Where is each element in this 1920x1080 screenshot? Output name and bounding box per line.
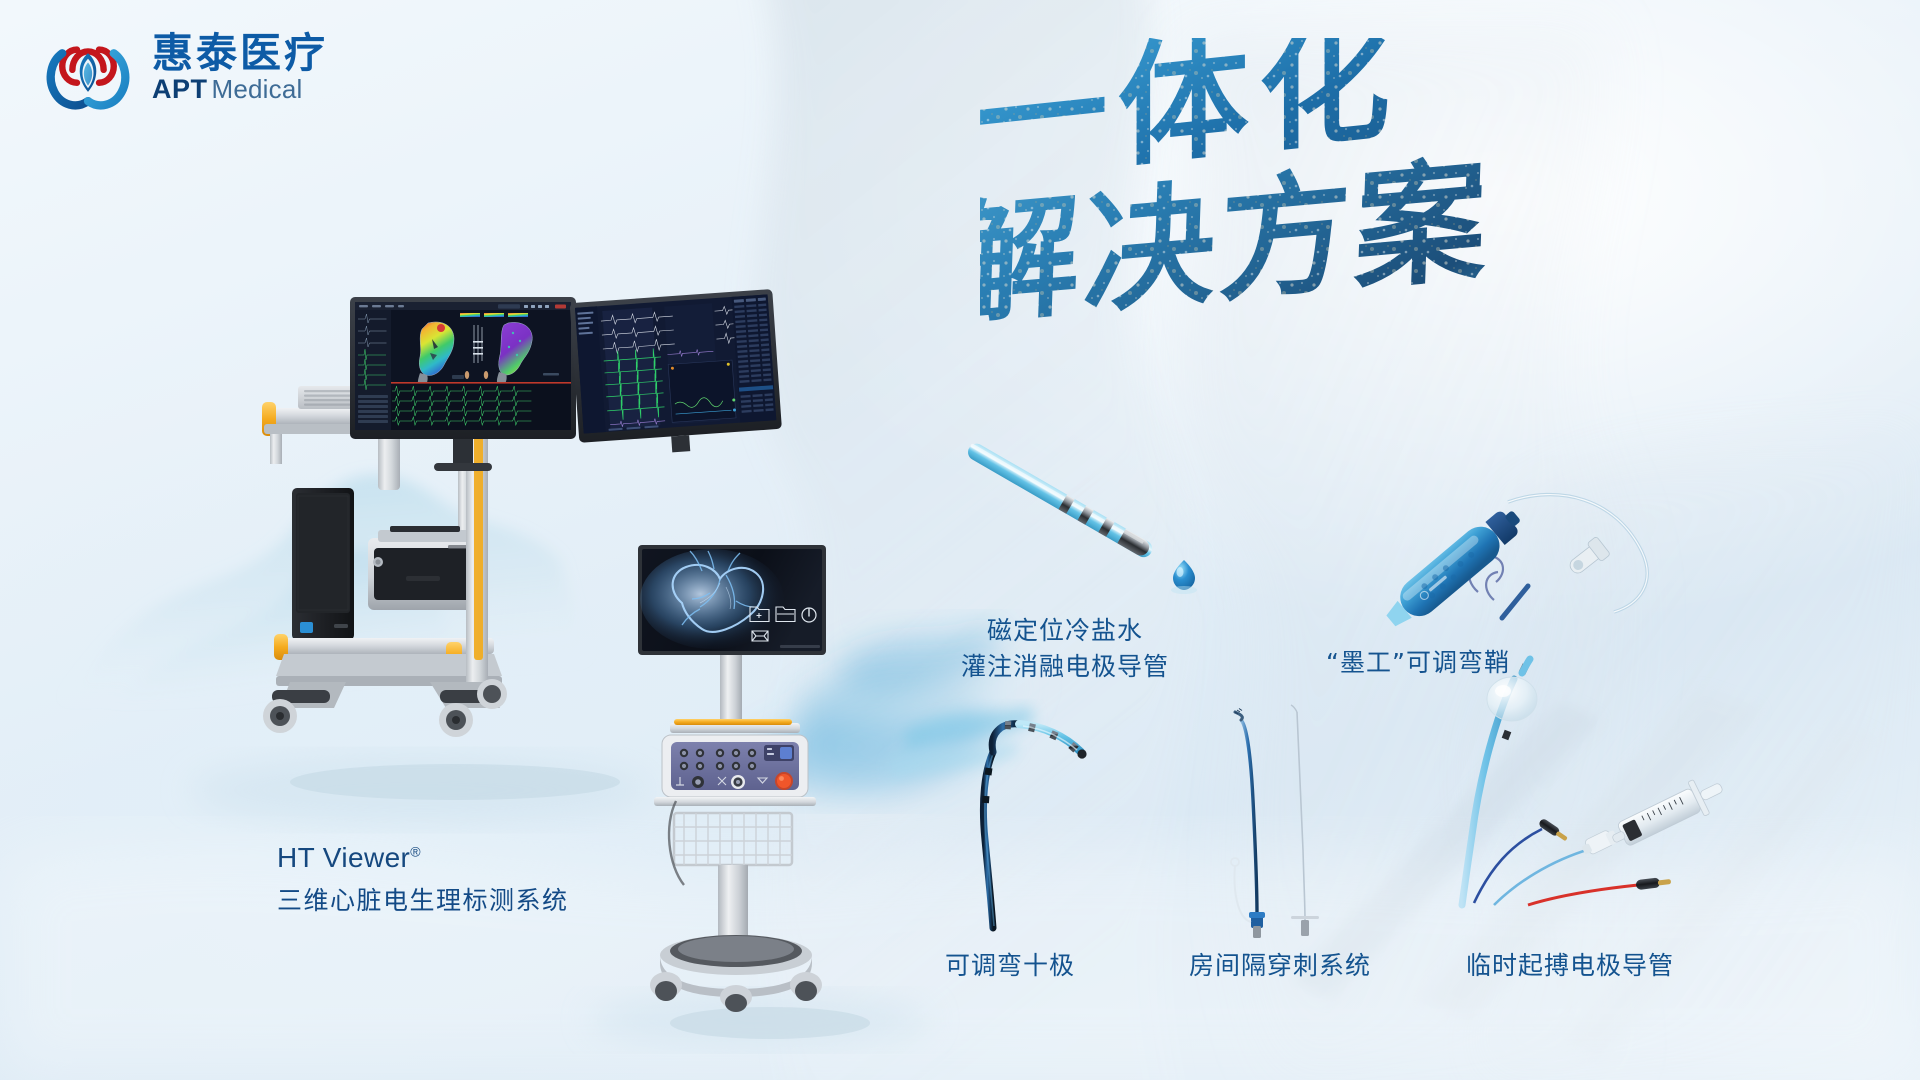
saline-droplet-icon <box>1173 560 1195 590</box>
label-transseptal-system: 房间隔穿刺系统 <box>1189 948 1371 984</box>
poster-canvas: 惠泰医疗 APT Medical <box>0 0 1920 1080</box>
heart-display-cart <box>640 545 900 1045</box>
label-ablation-catheter: 磁定位冷盐水 灌注消融电极导管 <box>961 613 1169 684</box>
label-sheath-line1: “墨工”可调弯鞘 <box>1326 645 1510 681</box>
ecg-monitor[interactable] <box>568 292 783 457</box>
label-ablation-line2: 灌注消融电极导管 <box>961 649 1169 685</box>
steerable-sheath-image <box>1390 440 1680 620</box>
label-ht-viewer-en: HT Viewer® <box>277 838 569 878</box>
temporary-pacing-catheter-image <box>1450 655 1750 905</box>
brand-name-cn: 惠泰医疗 <box>152 33 328 74</box>
headline-line-2 <box>980 38 1630 348</box>
brand-name-en: APT Medical <box>152 76 328 103</box>
apt-medical-circles-logo-icon <box>42 22 134 114</box>
label-ht-viewer-cn: 三维心脏电生理标测系统 <box>277 883 569 919</box>
label-transseptal-line1: 房间隔穿刺系统 <box>1189 948 1371 984</box>
label-ht-viewer: HT Viewer® 三维心脏电生理标测系统 <box>277 838 569 918</box>
ablation-catheter-image <box>960 430 1230 610</box>
decapolar-catheter-image <box>925 700 1135 930</box>
label-decapolar-line1: 可调弯十极 <box>945 948 1075 984</box>
brand-apt-text: APT <box>152 76 208 103</box>
brand-medical-text: Medical <box>212 76 303 102</box>
label-pacing-line1: 临时起搏电极导管 <box>1466 948 1674 984</box>
brand-wordmark: 惠泰医疗 APT Medical <box>152 33 328 103</box>
label-steerable-sheath: “墨工”可调弯鞘 <box>1326 645 1510 681</box>
label-ablation-line1: 磁定位冷盐水 <box>961 613 1169 649</box>
mapping-monitor[interactable] <box>348 295 578 475</box>
label-decapolar-catheter: 可调弯十极 <box>945 948 1075 984</box>
brand-logo: 惠泰医疗 APT Medical <box>42 22 328 114</box>
headline-calligraphy: 一体化 解决方案 <box>980 38 1630 348</box>
label-pacing-catheter: 临时起搏电极导管 <box>1466 948 1674 984</box>
transseptal-system-image <box>1185 690 1355 940</box>
